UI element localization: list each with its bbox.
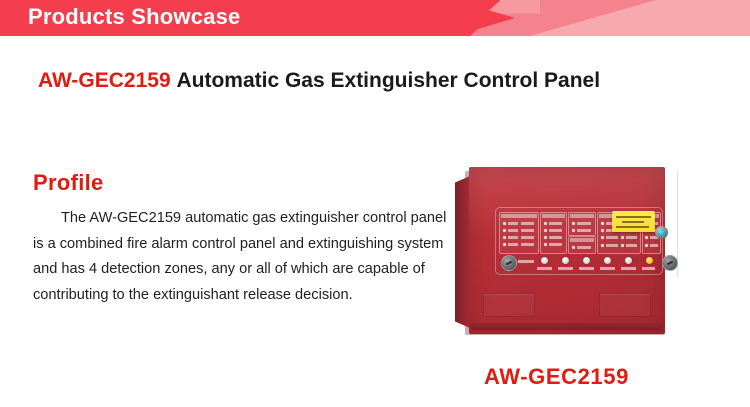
legend-led	[601, 229, 604, 232]
legend-led	[572, 229, 575, 232]
indicator-led-label	[579, 267, 594, 270]
key-switch-label	[679, 258, 691, 261]
legend-label	[577, 246, 591, 249]
legend-label	[549, 229, 562, 232]
panel-lower-recess-left	[483, 293, 535, 317]
banner-title: Products Showcase	[28, 0, 240, 36]
legend-group-title-bar	[599, 214, 639, 218]
legend-led	[544, 222, 547, 225]
indicator-led-evacuate	[541, 257, 548, 264]
extinguishant-release-warning-sticker	[612, 211, 655, 232]
release-control-key-switch[interactable]	[662, 255, 678, 271]
key-switch-label	[679, 263, 691, 266]
legend-led	[645, 229, 648, 232]
legend-label	[626, 244, 637, 247]
legend-label	[508, 243, 518, 246]
indicator-led-label	[558, 267, 573, 270]
legend-led	[645, 236, 648, 239]
sticker-line	[616, 226, 649, 228]
legend-led	[503, 243, 506, 246]
indicator-led-hold-active	[646, 257, 653, 264]
legend-label	[650, 244, 658, 247]
legend-led	[544, 236, 547, 239]
legend-label	[626, 222, 637, 225]
product-photo	[455, 163, 685, 341]
indicator-led-label	[600, 267, 615, 270]
legend-led	[503, 229, 506, 232]
legend-label	[521, 229, 534, 232]
legend-led	[544, 229, 547, 232]
indicator-led-label	[537, 267, 552, 270]
enable-control-key-switch[interactable]	[501, 255, 517, 271]
legend-label	[549, 222, 562, 225]
legend-led	[645, 244, 648, 247]
legend-led	[601, 244, 604, 247]
indicator-led-label	[621, 267, 636, 270]
product-title: AW-GEC2159 Automatic Gas Extinguisher Co…	[38, 68, 600, 94]
legend-label	[606, 222, 618, 225]
legend-led	[572, 246, 575, 249]
legend-led	[621, 222, 624, 225]
legend-group-extinguishant	[597, 212, 641, 254]
legend-label	[549, 236, 562, 239]
indicator-led-test-reset	[583, 257, 590, 264]
legend-led	[503, 222, 506, 225]
legend-label	[521, 236, 534, 239]
profile-body-text: The AW-GEC2159 automatic gas extinguishe…	[33, 206, 453, 308]
photo-caption: AW-GEC2159	[484, 364, 629, 390]
legend-led	[621, 229, 624, 232]
legend-group-title-bar	[542, 214, 565, 218]
indicator-led-extinguish	[625, 257, 632, 264]
legend-led	[601, 222, 604, 225]
profile-heading: Profile	[33, 170, 104, 196]
legend-label	[577, 222, 591, 225]
legend-label	[606, 236, 618, 239]
legend-led	[601, 236, 604, 239]
legend-label	[508, 236, 518, 239]
page-header-banner: Products Showcase	[0, 0, 750, 36]
legend-group-zone-fault	[568, 212, 596, 236]
legend-group-title-bar	[570, 214, 594, 218]
product-title-description: Automatic Gas Extinguisher Control Panel	[176, 69, 600, 92]
legend-group-title-bar	[644, 214, 659, 218]
indicator-led-label	[642, 267, 655, 270]
legend-label	[521, 222, 534, 225]
legend-label	[521, 243, 534, 246]
legend-label	[577, 229, 591, 232]
legend-group-title-bar	[570, 238, 594, 242]
legend-label	[549, 243, 562, 246]
legend-label	[606, 244, 618, 247]
legend-label	[508, 229, 518, 232]
indicator-led-silence	[562, 257, 569, 264]
legend-label	[650, 222, 658, 225]
legend-led	[645, 222, 648, 225]
legend-group-main-status	[568, 236, 596, 254]
sticker-line	[622, 221, 644, 223]
legend-group-zone-alarm	[540, 212, 567, 254]
legend-label	[626, 236, 637, 239]
legend-led	[572, 222, 575, 225]
legend-label	[626, 229, 637, 232]
panel-front-face	[469, 167, 665, 334]
legend-group-title-bar	[501, 214, 537, 218]
legend-label	[508, 222, 518, 225]
product-model-number: AW-GEC2159	[38, 69, 171, 92]
legend-led	[503, 236, 506, 239]
legend-group-detector-status	[499, 212, 539, 254]
key-switch-label	[518, 260, 534, 263]
legend-led	[621, 244, 624, 247]
panel-bottom-edge	[471, 323, 663, 330]
panel-lock-icon[interactable]	[655, 226, 668, 239]
banner-chevron-icon	[455, 0, 515, 36]
legend-label	[606, 229, 618, 232]
legend-led	[621, 236, 624, 239]
legend-led	[544, 243, 547, 246]
panel-lower-recess-right	[599, 293, 651, 317]
sticker-line	[616, 216, 651, 218]
indicator-led-enable-disable	[604, 257, 611, 264]
panel-legend-window	[495, 207, 663, 275]
